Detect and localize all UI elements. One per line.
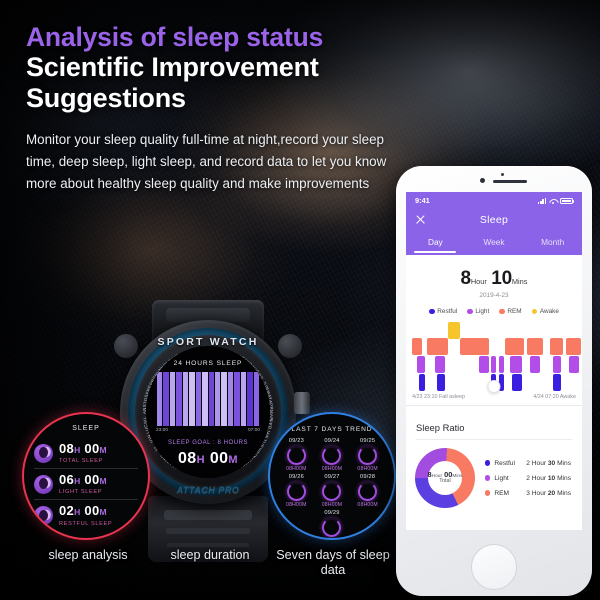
- legend-label: REM: [507, 308, 521, 315]
- trend-day-date: 09/27: [315, 474, 350, 480]
- moon-icon: [34, 475, 53, 494]
- trend-day-cell: 09/2408H00M: [315, 438, 350, 472]
- ratio-swatch: [485, 460, 490, 465]
- trend-day-cell: 09/2708H00M: [315, 474, 350, 508]
- sleep-ratio-card: Sleep Ratio 8Hour 00Mins Total Restful2 …: [406, 406, 582, 518]
- hypnogram-segment-light: [479, 356, 489, 373]
- hypnogram-segment-rem: [566, 338, 581, 355]
- watch-sleep-goal: SLEEP GOAL : 8 HOURS: [146, 440, 270, 446]
- ratio-row-value: 2 Hour 30 Mins: [526, 460, 571, 467]
- trend-day-cell: 09/29: [315, 510, 350, 538]
- sleep-stat-hours-unit: H: [74, 507, 80, 517]
- watch-sleep-duration: 08H 00M: [146, 450, 270, 468]
- trend-day-ring: [322, 446, 341, 465]
- sleep-stat-value: 02H 00M: [59, 503, 107, 518]
- caption-seven-days: Seven days of sleep data: [268, 548, 398, 579]
- watch-chart-bar: [202, 372, 207, 426]
- watch-chart-bar: [241, 372, 246, 426]
- trend-day-value: 08H00M: [350, 466, 385, 472]
- trend-day-cell: 09/2808H00M: [350, 474, 385, 508]
- tab-day[interactable]: Day: [406, 233, 465, 253]
- sleep-stat-mins-unit: M: [100, 476, 107, 486]
- watch-screw-top-left: [114, 334, 138, 358]
- phone-screen: 9:41 Sleep DayWeekMonth 8Hour 10Mins: [406, 192, 582, 530]
- trend-day-cell: 09/2608H00M: [279, 474, 314, 508]
- ratio-body: 8Hour 00Mins Total Restful2 Hour 30 Mins…: [406, 440, 582, 518]
- watch-chart-bar: [163, 372, 168, 426]
- duration-mins-unit: Mins: [512, 277, 528, 286]
- close-icon[interactable]: [415, 214, 426, 225]
- hypnogram-segment-light: [417, 356, 425, 373]
- trend-day-ring: [322, 518, 341, 537]
- donut-total-label: Total: [439, 479, 450, 485]
- trend-day-cell: 09/2508H00M: [350, 438, 385, 472]
- header-body-text: Monitor your sleep quality full-time at …: [26, 129, 401, 194]
- trend-day-ring: [358, 482, 377, 501]
- trend-day-ring: [287, 446, 306, 465]
- sleep-stat-hours-unit: H: [74, 445, 80, 455]
- trend-day-value: 08H00M: [279, 466, 314, 472]
- sleep-analysis-badge: SLEEP 08H 00MTOTAL SLEEP06H 00MLIGHT SLE…: [22, 412, 150, 540]
- trend-day-value: 08H00M: [350, 502, 385, 508]
- badge-right-day-grid: 09/2308H00M09/2408H00M09/2508H00M09/2608…: [279, 438, 385, 538]
- sleep-ratio-donut-chart: 8Hour 00Mins Total: [415, 448, 475, 508]
- app-tab-bar: DayWeekMonth: [406, 233, 582, 255]
- watch-duration-mins-unit: M: [228, 454, 238, 466]
- ratio-row-rem: REM3 Hour 20 Mins: [483, 486, 573, 501]
- hypnogram-start-label: 4/23 23:10 Fall asleep: [412, 394, 465, 400]
- phone-mockup: 9:41 Sleep DayWeekMonth 8Hour 10Mins: [396, 166, 592, 596]
- duration-mins: 10: [491, 268, 512, 289]
- hypnogram-segment-rem: [412, 338, 422, 355]
- watch-chart-bar: [247, 372, 252, 426]
- hypnogram-end-label: 4/24 07:20 Awake: [533, 394, 576, 400]
- badge-left-title: SLEEP: [24, 425, 148, 432]
- hypnogram-segment-awake: [448, 322, 459, 339]
- watch-screen[interactable]: 24 HOURS SLEEP 23:00 07:00 SLEEP GOAL : …: [146, 346, 270, 478]
- trend-day-value: 08H00M: [279, 502, 314, 508]
- moon-icon: [34, 506, 53, 525]
- badge-right-title: LAST 7 DAYS TREND: [270, 426, 394, 433]
- hypnogram-segment-rem: [460, 338, 490, 355]
- legend-label: Awake: [540, 308, 559, 315]
- hypnogram-segment-rem: [527, 338, 543, 355]
- hypnogram-segment-light: [569, 356, 579, 373]
- signal-icon: [538, 198, 546, 204]
- phone-front-camera: [480, 178, 485, 183]
- ratio-swatch: [485, 475, 490, 480]
- hypnogram-segment-rem: [505, 338, 523, 355]
- hypnogram-segment-rem: [427, 338, 448, 355]
- ratio-row-light: Light2 Hour 10 Mins: [483, 471, 573, 486]
- ratio-row-value: 2 Hour 10 Mins: [526, 475, 571, 482]
- watch-chart-bar: [254, 372, 259, 426]
- legend-item-light: Light: [467, 308, 489, 315]
- ratio-row-label-group: REM: [485, 490, 509, 497]
- scroll-handle[interactable]: [488, 380, 501, 393]
- hypnogram-segment-light: [530, 356, 540, 373]
- hypnogram-segment-restful: [512, 374, 522, 391]
- sleep-stat-row: 02H 00MRESTFUL SLEEP: [34, 500, 138, 531]
- legend-item-awake: Awake: [532, 308, 559, 315]
- app-header-bar: 9:41 Sleep DayWeekMonth: [406, 192, 582, 255]
- sleep-stat-row: 06H 00MLIGHT SLEEP: [34, 469, 138, 500]
- watch-chart-bar: [170, 372, 175, 426]
- watch-chart-bar: [234, 372, 239, 426]
- legend-item-restful: Restful: [429, 308, 457, 315]
- trend-day-ring: [322, 482, 341, 501]
- status-indicators: [538, 198, 573, 204]
- legend-item-rem: REM: [499, 308, 521, 315]
- sleep-stat-text: 08H 00MTOTAL SLEEP: [59, 441, 107, 465]
- ratio-row-label: Light: [494, 475, 508, 482]
- app-title: Sleep: [480, 214, 508, 226]
- watch-crown-button[interactable]: [294, 392, 310, 414]
- hypnogram-segment-rem: [550, 338, 563, 355]
- watch-chart-bar: [215, 372, 220, 426]
- watch-chart-bar: [157, 372, 162, 426]
- sleep-stat-value: 06H 00M: [59, 472, 107, 487]
- status-bar: 9:41: [406, 192, 582, 207]
- hypnogram-segment-restful: [437, 374, 445, 391]
- trend-day-ring: [358, 446, 377, 465]
- watch-screen-title: 24 HOURS SLEEP: [146, 360, 270, 367]
- trend-day-date: 09/26: [279, 474, 314, 480]
- caption-sleep-analysis: sleep analysis: [22, 548, 154, 563]
- watch-duration-hours: 08: [178, 450, 197, 467]
- trend-day-date: 09/23: [279, 438, 314, 444]
- tab-week[interactable]: Week: [465, 233, 524, 253]
- sleep-stat-mins-unit: M: [100, 507, 107, 517]
- chart-legend: RestfulLightREMAwake: [406, 308, 582, 315]
- watch-axis-end: 07:00: [248, 428, 260, 433]
- phone-earpiece-speaker: [493, 180, 527, 184]
- watch-chart-axis: 23:00 07:00: [156, 428, 260, 433]
- tab-month[interactable]: Month: [523, 233, 582, 253]
- legend-swatch: [499, 309, 505, 315]
- trend-day-date: 09/28: [350, 474, 385, 480]
- trend-day-cell: 09/2308H00M: [279, 438, 314, 472]
- hypnogram-segment-light: [491, 356, 496, 373]
- donut-center-labels: 8Hour 00Mins Total: [415, 448, 475, 508]
- battery-icon: [560, 198, 573, 204]
- promo-page: Analysis of sleep status Scientific Impr…: [0, 0, 600, 600]
- hypnogram-segment-light: [499, 356, 504, 373]
- donut-total-mins-unit: Mins: [452, 474, 462, 479]
- sleep-stat-label: RESTFUL SLEEP: [59, 522, 112, 528]
- moon-icon: [34, 444, 53, 463]
- watch-chart-bar: [183, 372, 188, 426]
- watch-chart-bar: [209, 372, 214, 426]
- ratio-row-list: Restful2 Hour 30 MinsLight2 Hour 10 Mins…: [483, 456, 573, 501]
- sleep-stat-row: 08H 00MTOTAL SLEEP: [34, 438, 138, 469]
- duration-hours-unit: Hour: [471, 277, 487, 286]
- ratio-row-label-group: Light: [485, 475, 509, 482]
- ratio-swatch: [485, 490, 490, 495]
- trend-day-date: 09/25: [350, 438, 385, 444]
- sleep-stat-label: LIGHT SLEEP: [59, 490, 107, 496]
- header-main-line-2: Suggestions: [26, 83, 426, 114]
- ratio-row-label: Restful: [494, 460, 515, 467]
- hypnogram-segment-restful: [553, 374, 561, 391]
- trend-day-date: 09/24: [315, 438, 350, 444]
- watch-screw-top-right: [278, 334, 302, 358]
- watch-chart-bar: [221, 372, 226, 426]
- trend-day-date: 09/29: [315, 510, 350, 516]
- sleep-date: 2019-4-23: [406, 292, 582, 299]
- trend-day-value: 08H00M: [315, 502, 350, 508]
- legend-swatch: [467, 309, 473, 315]
- phone-sensor-dot: [501, 173, 504, 176]
- sleep-stat-hours-unit: H: [74, 476, 80, 486]
- trend-day-value: 08H00M: [315, 466, 350, 472]
- legend-swatch: [532, 309, 538, 315]
- header-main-line-1: Scientific Improvement: [26, 52, 426, 83]
- watch-chart-bar: [176, 372, 181, 426]
- ratio-row-label-group: Restful: [485, 460, 515, 467]
- app-title-row: Sleep: [406, 207, 582, 233]
- legend-label: Restful: [437, 308, 457, 315]
- ratio-row-label: REM: [494, 490, 509, 497]
- watch-duration-mins: 00: [210, 450, 229, 467]
- duration-hours: 8: [461, 268, 471, 289]
- sleep-summary-card: 8Hour 10Mins 2019-4-23 RestfulLightREMAw…: [406, 255, 582, 400]
- hypnogram-axis: 4/23 23:10 Fall asleep 4/24 07:20 Awake: [406, 392, 582, 400]
- hypnogram-segment-light: [553, 356, 561, 373]
- sleep-stat-text: 06H 00MLIGHT SLEEP: [59, 472, 107, 496]
- ratio-row-value: 3 Hour 20 Mins: [526, 490, 571, 497]
- seven-day-trend-badge: LAST 7 DAYS TREND 09/2308H00M09/2408H00M…: [268, 412, 396, 540]
- header-accent-line: Analysis of sleep status: [26, 22, 426, 52]
- badge-left-rows: 08H 00MTOTAL SLEEP06H 00MLIGHT SLEEP02H …: [34, 438, 138, 531]
- trend-day-ring: [287, 482, 306, 501]
- legend-swatch: [429, 309, 435, 315]
- watch-sleep-bar-chart: [157, 372, 259, 426]
- watch-chart-bar: [196, 372, 201, 426]
- status-time: 9:41: [415, 196, 430, 205]
- caption-sleep-duration: sleep duration: [150, 548, 270, 563]
- wifi-icon: [549, 198, 557, 204]
- phone-home-button[interactable]: [471, 544, 517, 590]
- sleep-ratio-title: Sleep Ratio: [406, 414, 582, 439]
- watch-axis-start: 23:00: [156, 428, 168, 433]
- hypnogram-segment-restful: [419, 374, 426, 391]
- legend-label: Light: [475, 308, 489, 315]
- sleep-stat-label: TOTAL SLEEP: [59, 459, 107, 465]
- sleep-stat-text: 02H 00MRESTFUL SLEEP: [59, 503, 112, 527]
- sleep-stat-mins-unit: M: [100, 445, 107, 455]
- watch-brand-bottom: ATTACH PRO: [154, 480, 262, 500]
- header-block: Analysis of sleep status Scientific Impr…: [26, 22, 426, 194]
- hypnogram-segment-light: [435, 356, 445, 373]
- ratio-row-restful: Restful2 Hour 30 Mins: [483, 456, 573, 471]
- watch-chart-bar: [189, 372, 194, 426]
- sleep-duration-headline: 8Hour 10Mins: [406, 263, 582, 288]
- watch-duration-hours-unit: H: [197, 454, 205, 466]
- hypnogram-segment-light: [510, 356, 521, 373]
- watch-chart-bar: [228, 372, 233, 426]
- sleep-stat-value: 08H 00M: [59, 441, 107, 456]
